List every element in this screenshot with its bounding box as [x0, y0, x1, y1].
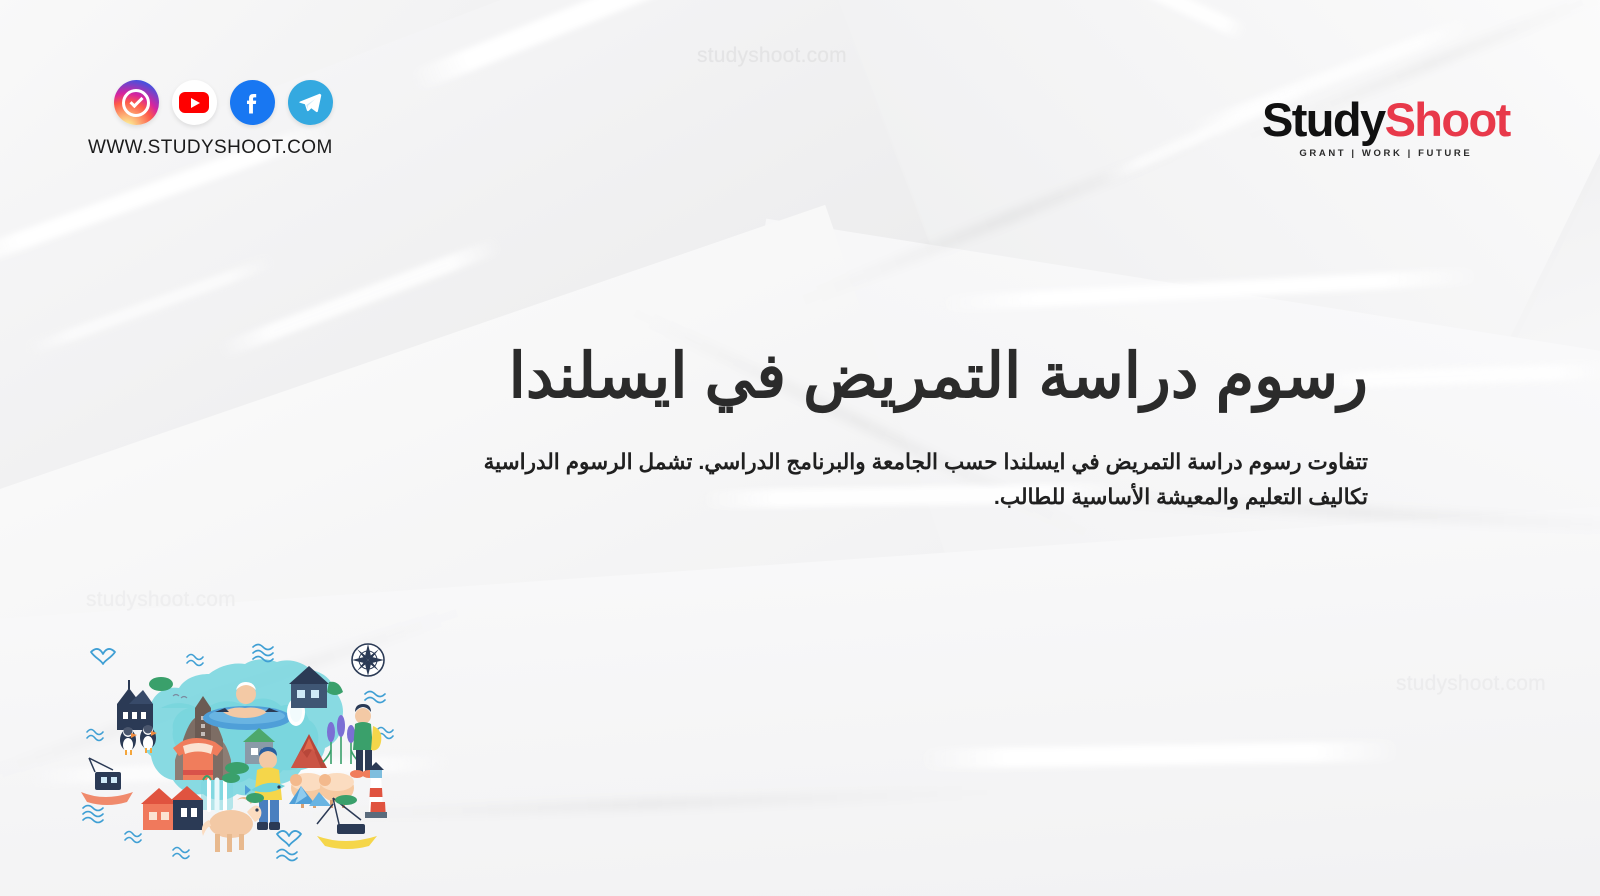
- iceland-map-illustration: [65, 612, 405, 862]
- instagram-icon[interactable]: [114, 80, 159, 125]
- logo-wordmark: StudyShoot: [1262, 96, 1510, 143]
- social-links-block: WWW.STUDYSHOOT.COM: [88, 80, 333, 159]
- watermark-top: studyshoot.com: [697, 44, 847, 68]
- logo-word-study: Study: [1262, 93, 1385, 146]
- watermark-right: studyshoot.com: [1396, 672, 1546, 696]
- watermark-left: studyshoot.com: [86, 588, 236, 612]
- studyshoot-logo[interactable]: StudyShoot GRANT | WORK | FUTURE: [1262, 96, 1510, 159]
- telegram-icon[interactable]: [288, 80, 333, 125]
- play-triangle-icon: [191, 98, 200, 108]
- check-icon: [129, 94, 143, 108]
- website-url[interactable]: WWW.STUDYSHOOT.COM: [88, 137, 333, 159]
- youtube-icon[interactable]: [172, 80, 217, 125]
- banner-canvas: studyshoot.com studyshoot.com studyshoot…: [0, 0, 1600, 896]
- houses-icon: [141, 786, 203, 830]
- page-title: رسوم دراسة التمريض في ايسلندا: [470, 340, 1368, 413]
- social-icon-row: [88, 80, 333, 125]
- logo-tagline: GRANT | WORK | FUTURE: [1262, 148, 1510, 159]
- facebook-icon[interactable]: [230, 80, 275, 125]
- logo-word-shoot: Shoot: [1385, 93, 1510, 146]
- black-church-icon: [117, 680, 153, 730]
- fishing-boat-icon: [81, 758, 133, 805]
- hero-text-block: رسوم دراسة التمريض في ايسلندا تتفاوت رسو…: [470, 340, 1368, 515]
- check-circle-icon: [122, 89, 150, 117]
- youtube-play-badge: [179, 92, 209, 113]
- compass-rose: [352, 644, 384, 676]
- page-subtitle: تتفاوت رسوم دراسة التمريض في ايسلندا حسب…: [470, 445, 1368, 515]
